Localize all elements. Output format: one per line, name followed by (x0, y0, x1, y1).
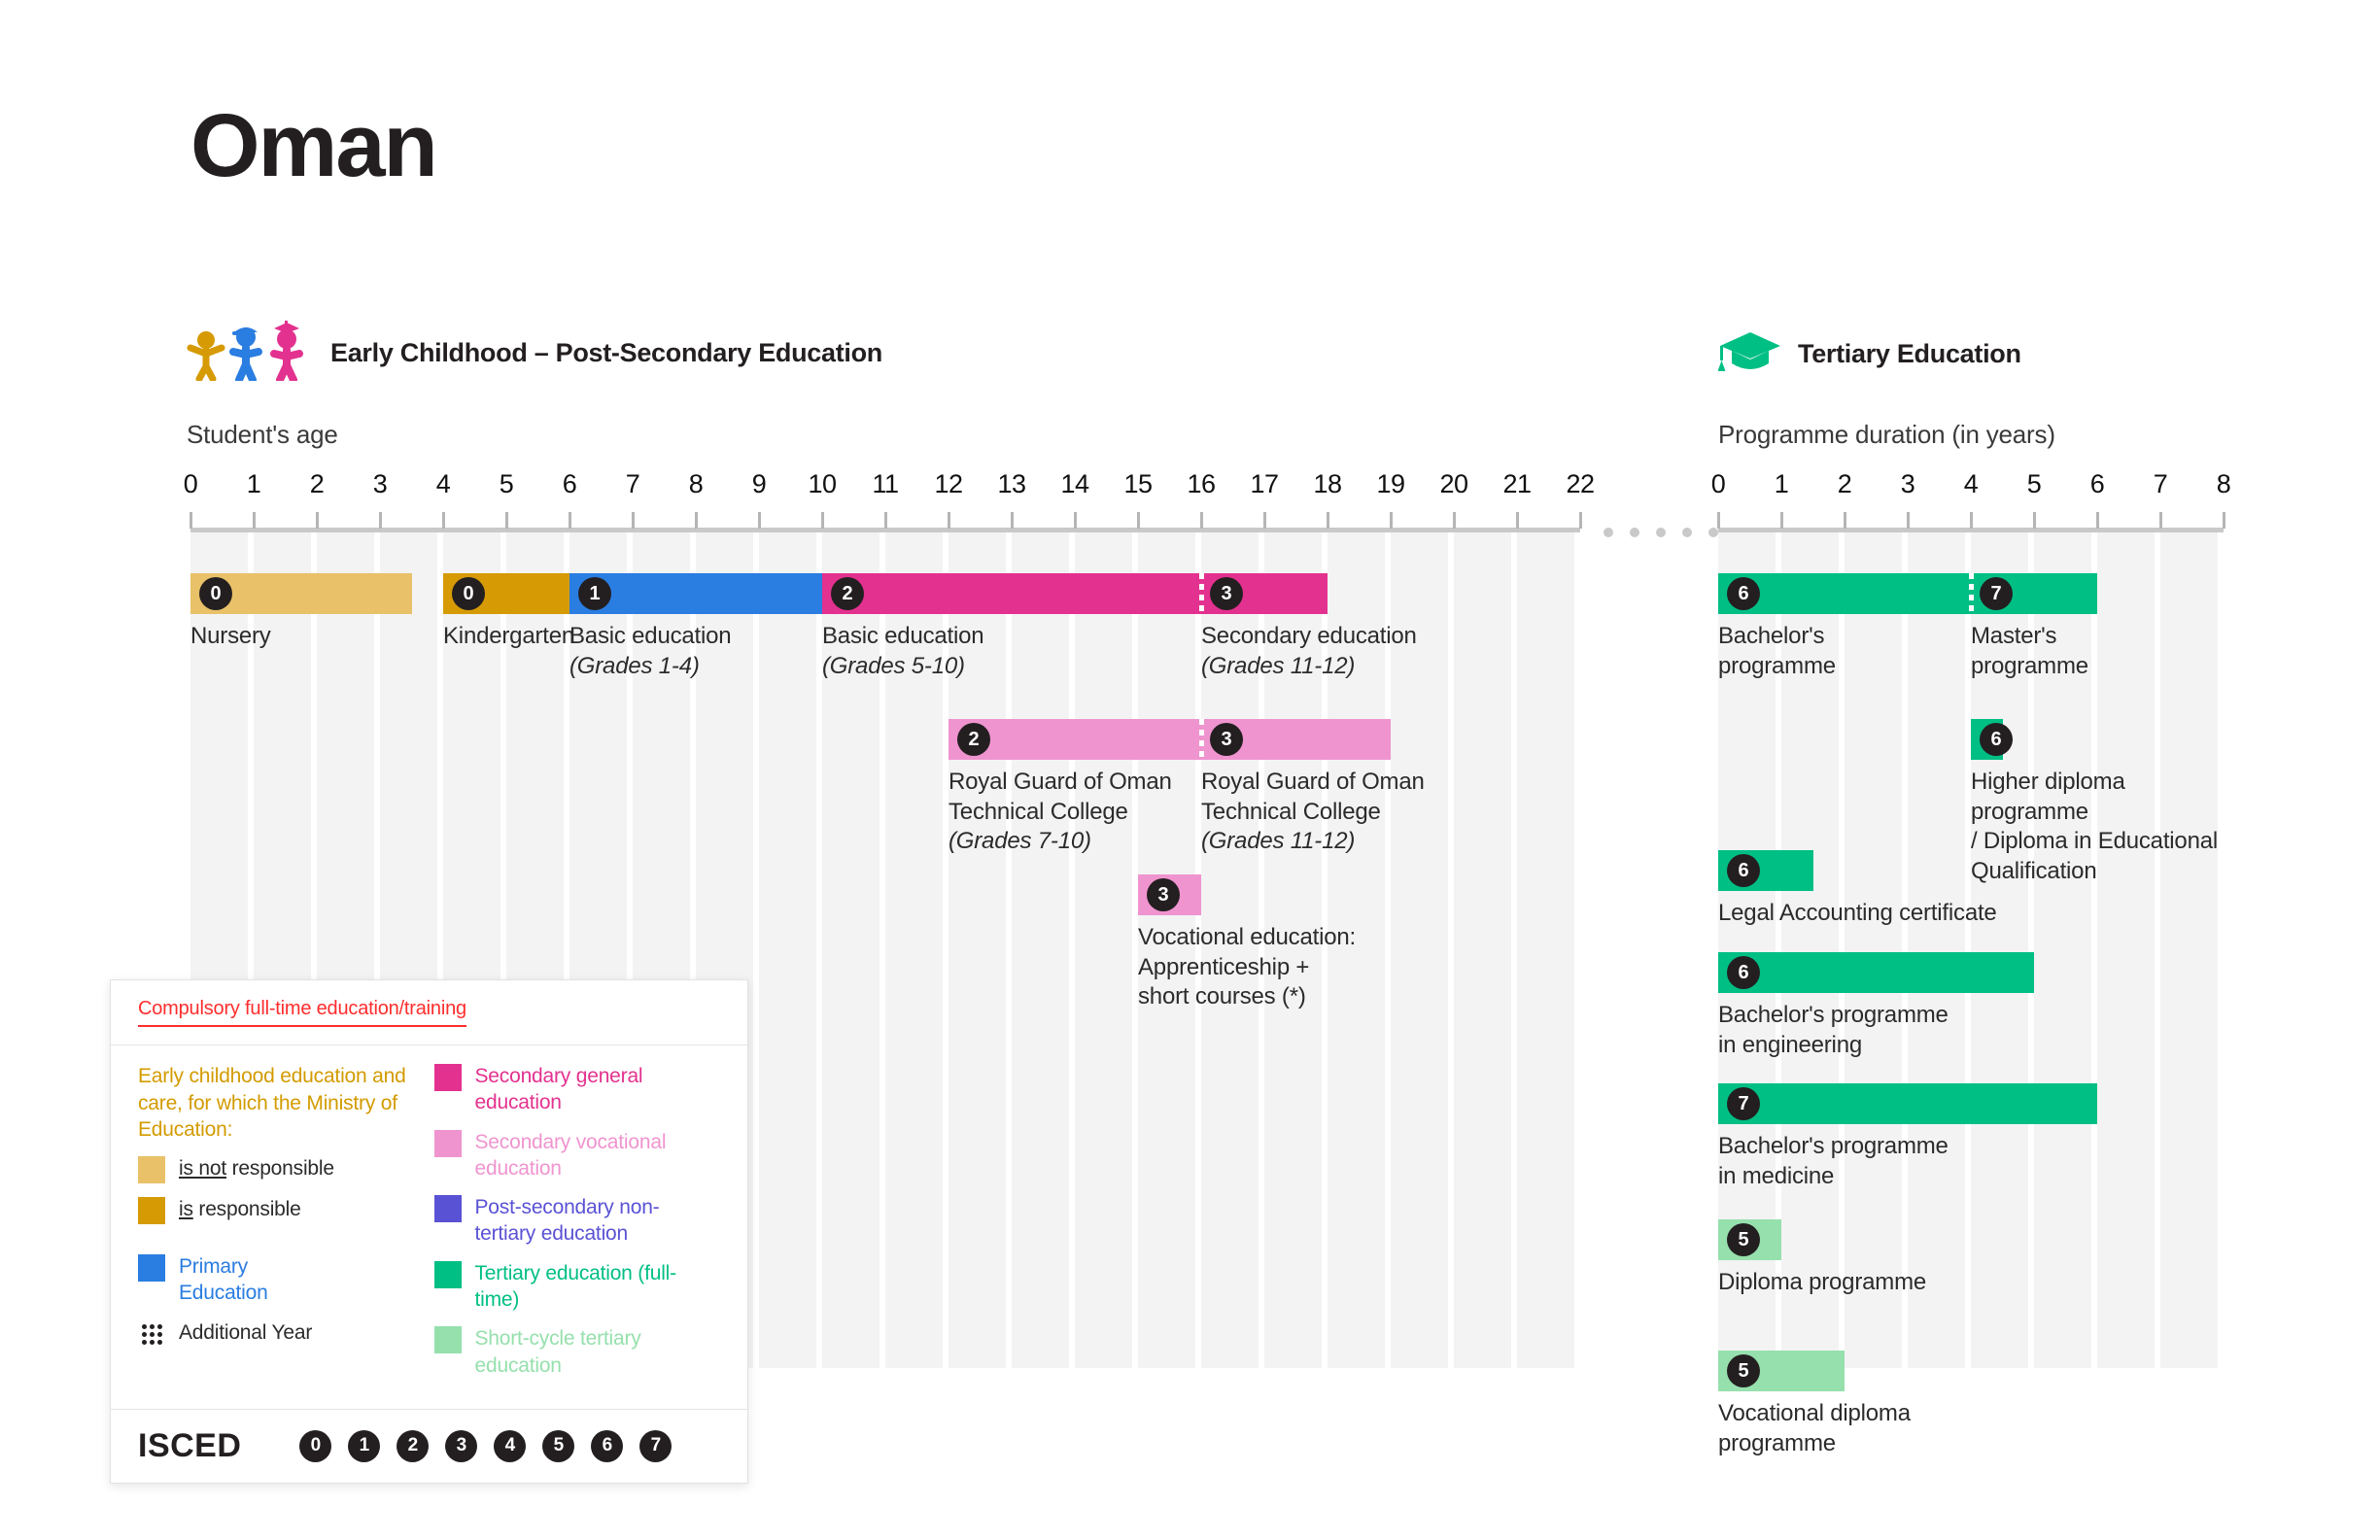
axis-tick (1074, 512, 1077, 529)
axis-tick (1327, 512, 1329, 529)
bar-label-line: Qualification (1971, 857, 2235, 887)
grid-band (1517, 532, 1574, 1368)
legend-item-primary-education: Primary Education (138, 1253, 425, 1307)
axis-tick-label: 4 (1964, 469, 1979, 499)
axis-tick-label: 17 (1250, 469, 1278, 499)
bar-sublabel: (Grades 1-4) (569, 652, 731, 682)
bar-label-royal-guard-7-10: Royal Guard of OmanTechnical College(Gra… (949, 768, 1172, 857)
axis-tick-label: 18 (1313, 469, 1341, 499)
axis-tick (505, 512, 508, 529)
axis-tick (253, 512, 256, 529)
axis-tick-label: 2 (310, 469, 325, 499)
bar-label-line: programme (1718, 1429, 1911, 1459)
legend-item-2: Post-secondary non-tertiary education (434, 1194, 721, 1248)
axis-tick (758, 512, 761, 529)
grid-band (2097, 532, 2155, 1368)
grid-band (1012, 532, 1069, 1368)
isced-badge: 3 (1210, 577, 1243, 610)
legend-panel: Compulsory full-time education/training … (110, 979, 748, 1484)
axis-tick (948, 512, 950, 529)
axis-tick (2033, 512, 2036, 529)
legend-item-not-responsible: is not responsible (138, 1155, 425, 1183)
axis-tick (316, 512, 319, 529)
infographic-page: Oman Early Childhood – Post-Secondary Ed… (0, 0, 2380, 1540)
bar-label-line: Royal Guard of Oman (949, 768, 1172, 798)
isced-level-0: 0 (299, 1430, 331, 1462)
bar-label-line: Diploma programme (1718, 1268, 1926, 1298)
axis-tick (1516, 512, 1519, 529)
isced-badge: 7 (1727, 1087, 1760, 1120)
swatch-legend-0 (434, 1064, 462, 1091)
axis-tick (1011, 512, 1014, 529)
legend-item-4: Short-cycle tertiary education (434, 1325, 721, 1379)
isced-badge: 0 (452, 577, 485, 610)
isced-title: ISCED (138, 1427, 241, 1465)
bar-label-legal-accounting-certificate: Legal Accounting certificate (1718, 899, 1997, 929)
axis-tick-label: 7 (2154, 469, 2168, 499)
axis-tick (2096, 512, 2099, 529)
isced-badge: 2 (957, 723, 990, 756)
bar-nursery[interactable]: 0 (190, 573, 412, 614)
bar-label-diploma-programme: Diploma programme (1718, 1268, 1926, 1298)
grid-band (1845, 532, 1902, 1368)
axis-tick-label: 1 (247, 469, 261, 499)
bar-vocational-education[interactable]: 3 (1138, 874, 1201, 915)
grid-band (1075, 532, 1132, 1368)
bar-basic-education-1-4[interactable]: 1 (569, 573, 822, 614)
page-title: Oman (190, 101, 436, 190)
axis-tick-label: 3 (1901, 469, 1915, 499)
axis-tick-label: 4 (436, 469, 451, 499)
swatch-ecec-responsible (138, 1197, 165, 1224)
grid-band (1454, 532, 1511, 1368)
axis-tick (190, 512, 192, 529)
bar-label-line: Bachelor's programme (1718, 1132, 1949, 1162)
axis-tick-label: 21 (1502, 469, 1531, 499)
axis-tick (1907, 512, 1910, 529)
legend-compulsory-label: Compulsory full-time education/training (138, 998, 466, 1027)
axis-tick-label: 15 (1123, 469, 1152, 499)
axis-tick (2159, 512, 2162, 529)
grid-band (2160, 532, 2218, 1368)
bar-higher-diploma-programme[interactable]: 6 (1971, 719, 2003, 760)
bar-label-vocational-diploma-programme: Vocational diplomaprogramme (1718, 1399, 1911, 1458)
axis-tick-label: 8 (689, 469, 704, 499)
swatch-primary-education (138, 1254, 165, 1282)
bar-label-nursery: Nursery (190, 622, 271, 652)
axis-tick-label: 7 (626, 469, 640, 499)
axis-tick-label: 19 (1376, 469, 1404, 499)
bar-label-line: short courses (*) (1138, 982, 1356, 1012)
bar-vocational-diploma-programme[interactable]: 5 (1718, 1351, 1845, 1391)
swatch-legend-2 (434, 1195, 462, 1222)
bar-masters-programme[interactable]: 7 (1971, 573, 2097, 614)
bar-label-kindergarten: Kindergarten (443, 622, 574, 652)
legend-is-responsible-rest: responsible (193, 1198, 301, 1220)
legend-left-column: Early childhood education and care, for … (138, 1063, 425, 1391)
bar-label-line: Legal Accounting certificate (1718, 899, 1997, 929)
axis-tick-label: 8 (2217, 469, 2231, 499)
isced-badge: 3 (1147, 878, 1180, 911)
bar-secondary-education[interactable]: 3 (1201, 573, 1328, 614)
bar-label-bachelors-medicine: Bachelor's programmein medicine (1718, 1132, 1949, 1191)
bar-sublabel: (Grades 7-10) (949, 827, 1172, 857)
isced-scale: 01234567 (299, 1430, 672, 1462)
legend-label-4: Short-cycle tertiary education (475, 1325, 718, 1379)
legend-item-is-responsible: is responsible (138, 1196, 425, 1224)
bar-legal-accounting-certificate[interactable]: 6 (1718, 850, 1813, 891)
bar-sublabel: (Grades 11-12) (1201, 652, 1417, 682)
legend-item-1: Secondary vocational education (434, 1129, 721, 1182)
bar-bachelors-medicine[interactable]: 7 (1718, 1083, 2097, 1124)
axis-tick (695, 512, 698, 529)
legend-right-column: Secondary general educationSecondary voc… (434, 1063, 721, 1391)
additional-year-icon (138, 1321, 165, 1349)
axis-tick-label: 22 (1566, 469, 1594, 499)
bar-label-line: Vocational diploma (1718, 1399, 1911, 1429)
axis-tick (1137, 512, 1140, 529)
bar-label-higher-diploma-programme: Higher diploma programme/ Diploma in Edu… (1971, 768, 2235, 887)
legend-compulsory-section: Compulsory full-time education/training (111, 980, 747, 1044)
axis-tick-label: 6 (2090, 469, 2105, 499)
isced-badge: 1 (578, 577, 611, 610)
bar-label-line: programme (1718, 652, 1836, 682)
axis-tick (632, 512, 635, 529)
legend-label-2: Post-secondary non-tertiary education (475, 1194, 718, 1248)
bar-label-line: Kindergarten (443, 622, 574, 652)
axis-tick-label: 0 (184, 469, 198, 499)
bar-label-line: Master's (1971, 622, 2088, 652)
bar-label-basic-education-1-4: Basic education(Grades 1-4) (569, 622, 731, 681)
legend-not-responsible-underline: is not (179, 1157, 226, 1180)
axis-tick (1263, 512, 1266, 529)
bar-sublabel: (Grades 5-10) (822, 652, 983, 682)
axis-tick-label: 12 (934, 469, 962, 499)
bar-basic-education-5-10[interactable]: 2 (822, 573, 1201, 614)
bar-royal-guard-11-12[interactable]: 3 (1201, 719, 1391, 760)
bar-label-line: programme (1971, 652, 2088, 682)
bar-bachelors-engineering[interactable]: 6 (1718, 952, 2034, 993)
bar-label-line: Nursery (190, 622, 271, 652)
bar-label-vocational-education: Vocational education:Apprenticeship +sho… (1138, 923, 1356, 1012)
bar-label-line: Bachelor's (1718, 622, 1836, 652)
swatch-legend-3 (434, 1261, 462, 1288)
axis-tick-label: 1 (1775, 469, 1789, 499)
axis-tick-label: 2 (1838, 469, 1852, 499)
axis-tick (2223, 512, 2225, 529)
additional-year-marker (1969, 573, 1974, 614)
left-axis-caption: Student's age (187, 420, 338, 450)
axis-tick (1970, 512, 1973, 529)
left-panel-header: Early Childhood – Post-Secondary Educati… (185, 321, 882, 386)
right-axis-caption: Programme duration (in years) (1718, 420, 2055, 450)
legend-label-3: Tertiary education (full-time) (475, 1260, 718, 1314)
axis-tick-label: 3 (373, 469, 388, 499)
isced-level-2: 2 (397, 1430, 429, 1462)
axis-tick-label: 14 (1060, 469, 1088, 499)
swatch-ecec-not-responsible (138, 1156, 165, 1183)
separator-dot (1604, 528, 1613, 537)
isced-level-1: 1 (348, 1430, 380, 1462)
bar-label-line: Basic education (822, 622, 983, 652)
legend-is-responsible-underline: is (179, 1198, 193, 1220)
axis-tick-label: 0 (1711, 469, 1726, 499)
bar-label-masters-programme: Master'sprogramme (1971, 622, 2088, 681)
legend-keys-section: Early childhood education and care, for … (111, 1044, 747, 1409)
family-figures-icon (185, 321, 313, 386)
bar-label-line: Apprenticeship + (1138, 953, 1356, 983)
axis-tick-label: 13 (997, 469, 1025, 499)
isced-badge: 6 (1727, 577, 1760, 610)
isced-level-5: 5 (542, 1430, 574, 1462)
isced-scale-section: ISCED 01234567 (111, 1409, 747, 1483)
bar-label-basic-education-5-10: Basic education(Grades 5-10) (822, 622, 983, 681)
bar-label-line: Higher diploma programme (1971, 768, 2235, 827)
separator-dot (1630, 528, 1639, 537)
isced-badge: 0 (199, 577, 232, 610)
bar-label-bachelors-programme: Bachelor'sprogramme (1718, 622, 1836, 681)
bar-label-line: in medicine (1718, 1162, 1949, 1192)
isced-badge: 6 (1980, 723, 2013, 756)
legend-ecec-heading: Early childhood education and care, for … (138, 1063, 425, 1144)
axis-tick (1844, 512, 1846, 529)
axis-tick-label: 9 (752, 469, 767, 499)
bar-label-line: Bachelor's programme (1718, 1001, 1949, 1031)
axis-tick (1780, 512, 1783, 529)
separator-dot (1708, 528, 1718, 537)
legend-label-0: Secondary general education (475, 1063, 718, 1116)
axis-tick-label: 16 (1187, 469, 1215, 499)
bar-kindergarten[interactable]: 0 (443, 573, 569, 614)
axis-tick-label: 5 (2027, 469, 2042, 499)
isced-level-7: 7 (639, 1430, 672, 1462)
axis-tick (569, 512, 571, 529)
swatch-legend-4 (434, 1326, 462, 1353)
graduation-cap-icon (1718, 328, 1782, 380)
axis-tick (1717, 512, 1720, 529)
bar-label-line: Technical College (1201, 798, 1425, 828)
axis-separator-dots (1604, 528, 1718, 537)
left-panel-title: Early Childhood – Post-Secondary Educati… (330, 338, 882, 368)
isced-badge: 5 (1727, 1223, 1760, 1256)
bar-label-line: Technical College (949, 798, 1172, 828)
isced-badge: 6 (1727, 956, 1760, 989)
axis-tick (442, 512, 445, 529)
legend-label-1: Secondary vocational education (475, 1129, 718, 1182)
axis-tick (1200, 512, 1203, 529)
isced-badge: 7 (1980, 577, 2013, 610)
axis-tick (379, 512, 382, 529)
axis-tick (884, 512, 887, 529)
bar-label-line: / Diploma in Educational (1971, 827, 2235, 857)
axis-tick (1453, 512, 1456, 529)
legend-item-3: Tertiary education (full-time) (434, 1260, 721, 1314)
isced-badge: 2 (831, 577, 864, 610)
isced-level-3: 3 (445, 1430, 477, 1462)
axis-tick-label: 10 (808, 469, 836, 499)
isced-badge: 3 (1210, 723, 1243, 756)
right-panel-title: Tertiary Education (1798, 339, 2021, 369)
additional-year-marker (1199, 719, 1204, 760)
additional-year-marker (1199, 573, 1204, 614)
isced-badge: 5 (1727, 1354, 1760, 1387)
axis-tick (1579, 512, 1582, 529)
axis-tick (1390, 512, 1393, 529)
legend-item-additional-year: Additional Year (138, 1319, 425, 1349)
bar-label-line: in engineering (1718, 1031, 1949, 1061)
bar-diploma-programme[interactable]: 5 (1718, 1219, 1781, 1260)
axis-tick-label: 6 (563, 469, 577, 499)
axis-tick-label: 20 (1439, 469, 1467, 499)
bar-label-secondary-education: Secondary education(Grades 11-12) (1201, 622, 1417, 681)
separator-dot (1682, 528, 1692, 537)
isced-level-4: 4 (494, 1430, 526, 1462)
right-panel-header: Tertiary Education (1718, 328, 2021, 380)
grid-band (1908, 532, 1965, 1368)
legend-not-responsible-rest: responsible (226, 1157, 334, 1180)
isced-badge: 6 (1727, 854, 1760, 887)
grid-band (759, 532, 816, 1368)
tertiary-education-chart: 0123456786Bachelor'sprogramme7Master'spr… (1718, 466, 2235, 1399)
bar-label-line: Secondary education (1201, 622, 1417, 652)
bar-label-royal-guard-11-12: Royal Guard of OmanTechnical College(Gra… (1201, 768, 1425, 857)
swatch-legend-1 (434, 1130, 462, 1157)
legend-primary-education-label: Primary Education (179, 1253, 334, 1307)
bar-sublabel: (Grades 11-12) (1201, 827, 1425, 857)
axis-tick (821, 512, 824, 529)
bar-royal-guard-7-10[interactable]: 2 (949, 719, 1201, 760)
bar-label-line: Royal Guard of Oman (1201, 768, 1425, 798)
axis-tick-label: 5 (500, 469, 514, 499)
axis-tick-label: 11 (872, 469, 898, 499)
isced-level-6: 6 (591, 1430, 623, 1462)
bar-label-bachelors-engineering: Bachelor's programmein engineering (1718, 1001, 1949, 1060)
legend-additional-year-label: Additional Year (179, 1319, 312, 1346)
bar-label-line: Basic education (569, 622, 731, 652)
bar-label-line: Vocational education: (1138, 923, 1356, 953)
legend-item-0: Secondary general education (434, 1063, 721, 1116)
separator-dot (1656, 528, 1666, 537)
bar-bachelors-programme[interactable]: 6 (1718, 573, 1971, 614)
